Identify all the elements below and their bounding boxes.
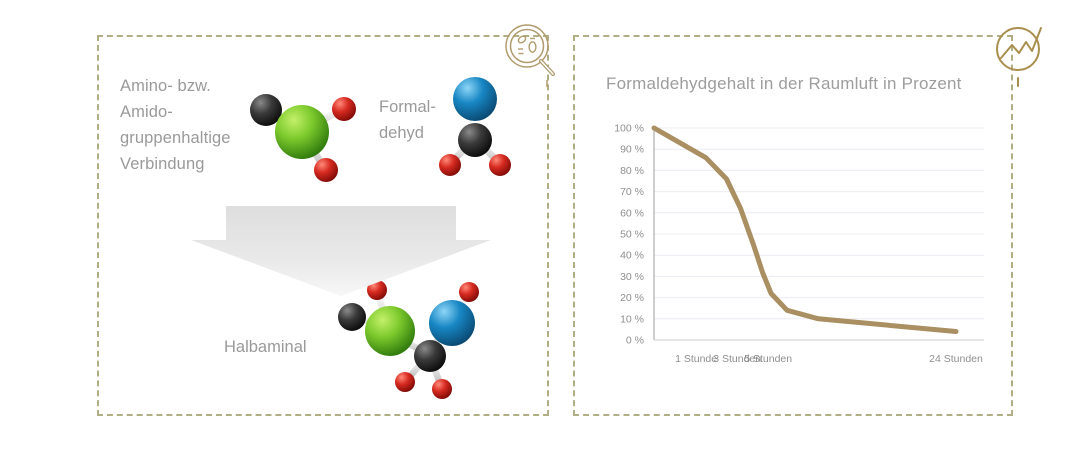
chart-y-tick: 40 % [620, 250, 644, 262]
chart-y-tick: 20 % [620, 292, 644, 304]
chart-trend-circle-icon [985, 18, 1057, 90]
chart-title: Formaldehydgehalt in der Raumluft in Pro… [606, 74, 962, 94]
chart-y-tick: 90 % [620, 144, 644, 156]
chart-y-tick: 0 % [626, 335, 644, 347]
line-chart: 100 %90 %80 %70 %60 %50 %40 %30 %20 %10 … [592, 118, 992, 378]
chart-x-tick: 1 Stunde [675, 353, 717, 365]
chart-x-tick: 24 Stunden [929, 353, 983, 365]
chart-y-tick: 100 % [614, 123, 644, 135]
formaldehyde-molecule [436, 72, 514, 182]
chart-gridlines [654, 128, 984, 340]
chart-y-tick: 60 % [620, 207, 644, 219]
product-label: Halbaminal [224, 338, 307, 357]
chart-y-axis-labels: 100 %90 %80 %70 %60 %50 %40 %30 %20 %10 … [614, 123, 644, 347]
chart-y-tick: 70 % [620, 186, 644, 198]
chart-x-tick: 5 Stunden [744, 353, 792, 365]
chart-y-tick: 30 % [620, 271, 644, 283]
amino-compound-molecule [232, 82, 372, 192]
chart-x-axis-labels: 1 Stunde3 Stunden5 Stunden24 Stunden [675, 353, 983, 365]
chart-y-tick: 50 % [620, 229, 644, 241]
chart-y-tick: 80 % [620, 165, 644, 177]
chart-data-line [654, 128, 956, 332]
chart-y-tick: 10 % [620, 313, 644, 325]
down-arrow-icon [186, 206, 496, 298]
